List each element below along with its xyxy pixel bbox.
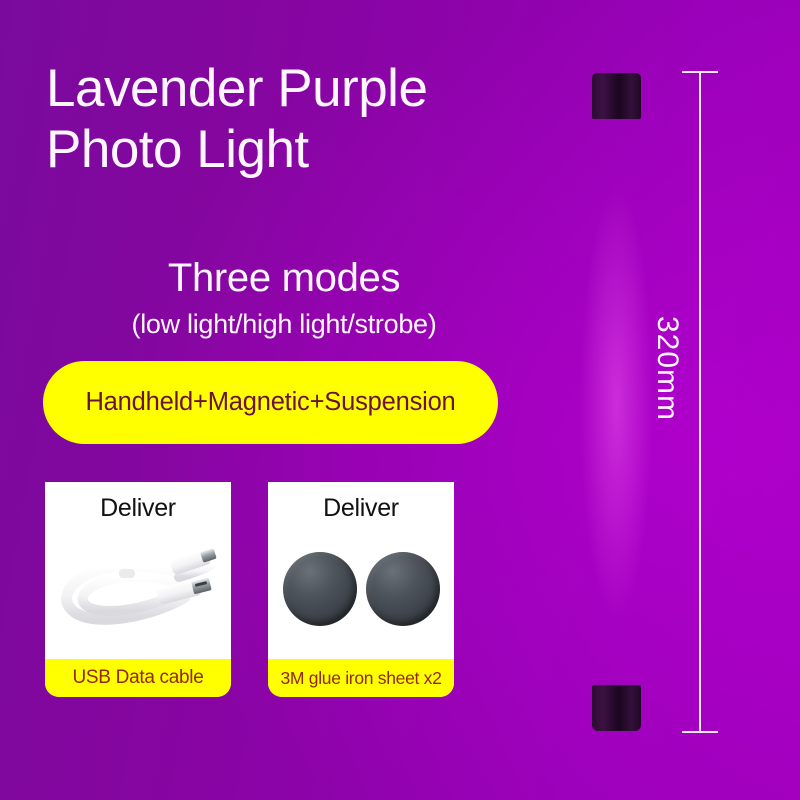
card-artwork xyxy=(268,523,454,659)
dimension-line xyxy=(682,71,718,733)
product-ad-image: Lavender Purple Photo Light Three modes … xyxy=(0,0,800,800)
light-cap-bottom xyxy=(592,685,641,731)
accessory-card-list: Deliver xyxy=(45,482,455,697)
card-title: Deliver xyxy=(45,494,231,523)
modes-subtitle: (low light/high light/strobe) xyxy=(44,309,524,340)
usb-cable-icon xyxy=(53,539,223,635)
dimension-label: 320mm xyxy=(650,316,684,421)
features-badge-label: Handheld+Magnetic+Suspension xyxy=(85,388,455,417)
iron-disc-icon xyxy=(366,552,440,626)
iron-disc-icon xyxy=(283,552,357,626)
dimension-rule xyxy=(699,73,701,731)
modes-title: Three modes xyxy=(44,256,524,301)
accessory-card-iron-sheet: Deliver 3M glue iron sheet x2 xyxy=(268,482,454,697)
card-artwork xyxy=(45,523,231,659)
light-tube xyxy=(592,117,641,689)
accessory-card-usb-cable: Deliver xyxy=(45,482,231,697)
card-title: Deliver xyxy=(268,494,454,523)
iron-disc-group xyxy=(268,539,454,639)
dimension-tick-bottom xyxy=(682,731,718,733)
page-title: Lavender Purple Photo Light xyxy=(46,58,566,181)
light-cap-top xyxy=(592,73,641,119)
light-wand-product xyxy=(592,73,641,731)
features-badge: Handheld+Magnetic+Suspension xyxy=(43,361,498,444)
card-footer-label: 3M glue iron sheet x2 xyxy=(268,659,454,697)
card-footer-label: USB Data cable xyxy=(45,659,231,697)
